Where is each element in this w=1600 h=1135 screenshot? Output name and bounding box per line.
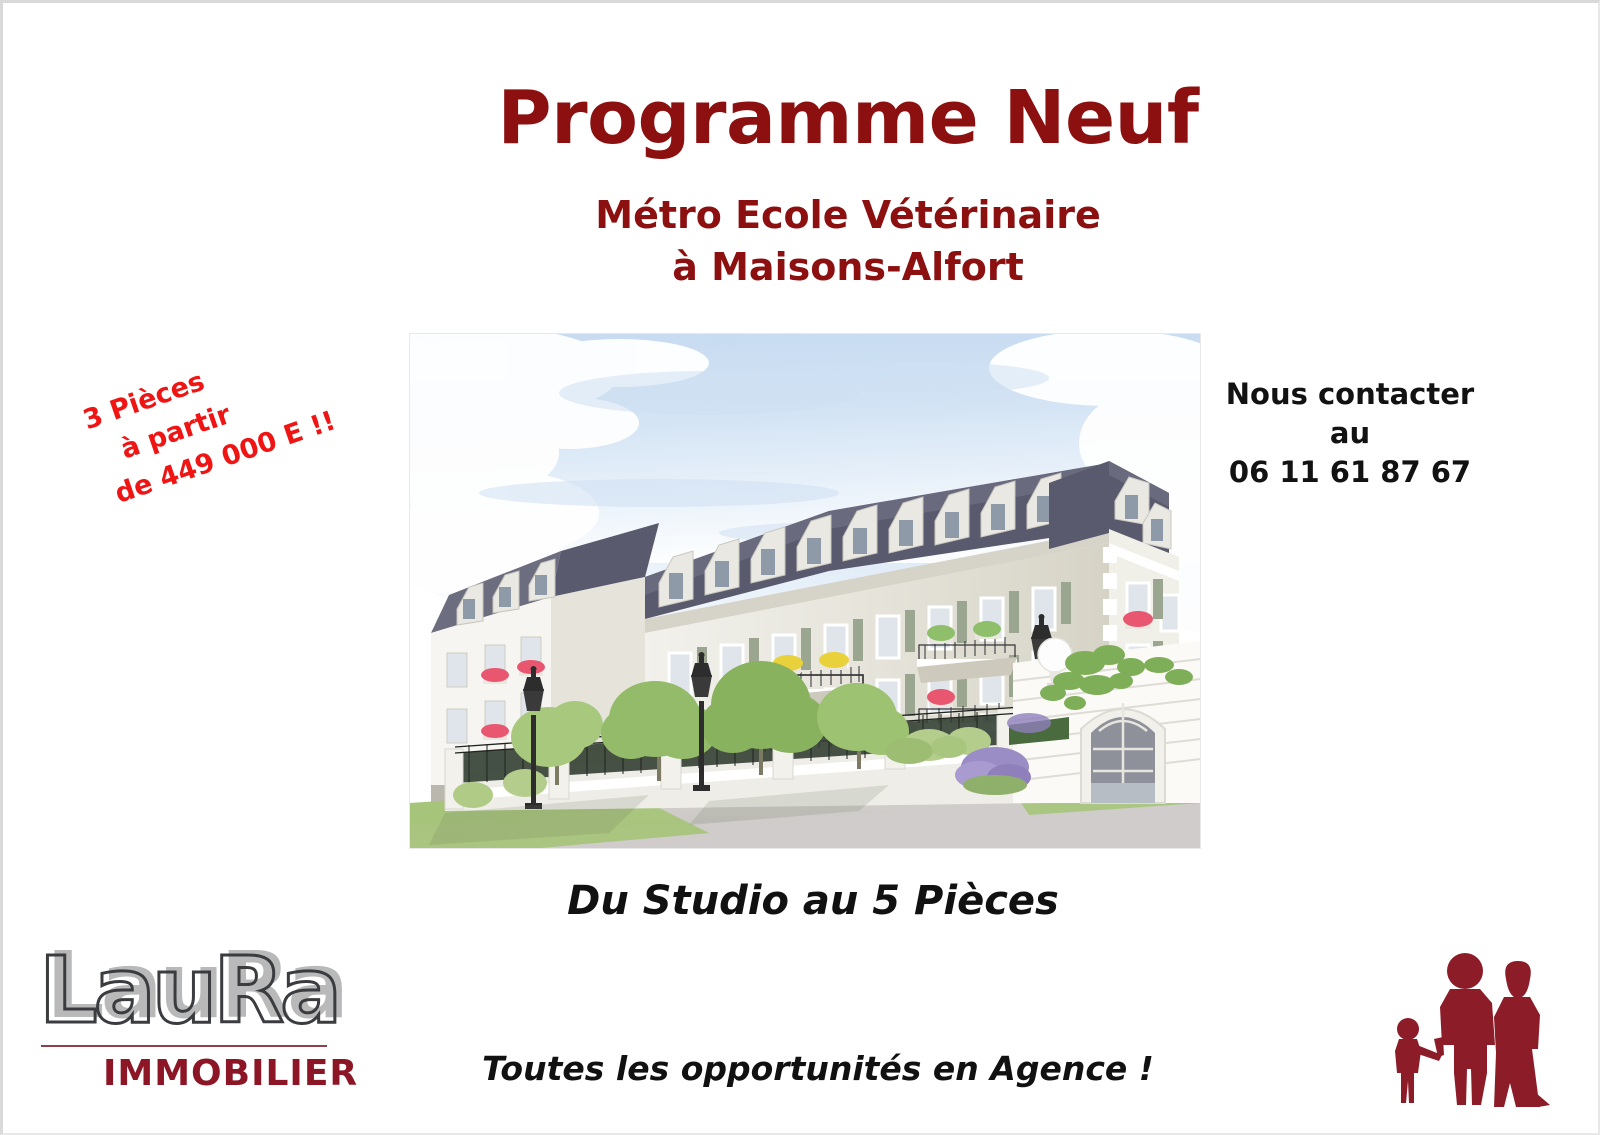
tagline-unit-range: Du Studio au 5 Pièces <box>3 878 1600 924</box>
family-silhouette-icon <box>1368 933 1558 1113</box>
building-render-image <box>409 333 1201 849</box>
subtitle-line-2: à Maisons-Alfort <box>93 241 1600 293</box>
headline-block: Programme Neuf Métro Ecole Vétérinaire à… <box>3 75 1600 293</box>
building-render-svg <box>409 333 1201 849</box>
logo-wordmark-front: LauRa <box>39 938 338 1044</box>
contact-label-line-1: Nous contacter <box>1200 375 1500 414</box>
mother-figure <box>1494 961 1550 1107</box>
laura-immobilier-logo: LauRa LauRa IMMOBILIER <box>39 933 329 1103</box>
logo-subtitle: IMMOBILIER <box>103 1053 358 1094</box>
contact-label-line-2: au <box>1200 414 1500 453</box>
page-title: Programme Neuf <box>3 75 1600 161</box>
contact-phone-number: 06 11 61 87 67 <box>1200 453 1500 492</box>
logo-wordmark: LauRa LauRa <box>39 933 329 1045</box>
child-figure <box>1395 1018 1442 1103</box>
father-figure <box>1434 953 1495 1105</box>
subtitle-line-1: Métro Ecole Vétérinaire <box>93 189 1600 241</box>
page-subtitle: Métro Ecole Vétérinaire à Maisons-Alfort <box>3 189 1600 293</box>
contact-block: Nous contacter au 06 11 61 87 67 <box>1200 375 1500 492</box>
logo-divider-rule <box>41 1045 327 1047</box>
poster-canvas: Programme Neuf Métro Ecole Vétérinaire à… <box>0 0 1600 1135</box>
family-silhouette-svg <box>1368 933 1558 1113</box>
price-flash-badge: 3 Pièces à partir de 449 000 E !! <box>78 296 429 517</box>
